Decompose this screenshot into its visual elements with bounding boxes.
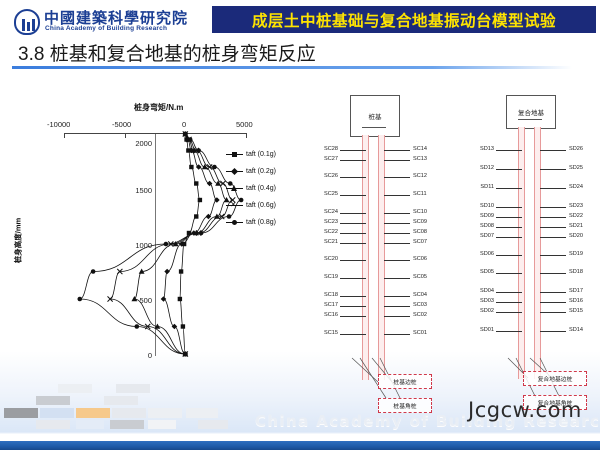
pile-shaft bbox=[362, 135, 369, 380]
callout-composite-edge: 复合地基边桩 bbox=[523, 371, 587, 386]
sensor-lead-line bbox=[496, 312, 522, 313]
sensor-label: SC10 bbox=[413, 209, 427, 215]
legend-label: taft (0.8g) bbox=[246, 219, 276, 226]
sensor-lead-line bbox=[384, 150, 410, 151]
sensor-lead-line bbox=[340, 223, 366, 224]
decorative-mosaic bbox=[0, 384, 240, 432]
sensor-lead-line bbox=[496, 302, 522, 303]
sensor-lead-line bbox=[384, 243, 410, 244]
sensor-label: SC13 bbox=[413, 156, 427, 162]
sensor-label: SD06 bbox=[464, 251, 494, 257]
legend-item: taft (0.2g) bbox=[226, 163, 304, 180]
sensor-label: SD07 bbox=[464, 233, 494, 239]
legend-label: taft (0.2g) bbox=[246, 168, 276, 175]
sensor-label: SC08 bbox=[413, 229, 427, 235]
sensor-label: SD21 bbox=[569, 223, 583, 229]
legend-marker-triangle-icon bbox=[226, 188, 243, 189]
sensor-label: SC17 bbox=[308, 302, 338, 308]
sensor-label: SC11 bbox=[413, 191, 427, 197]
sensor-label: SD24 bbox=[569, 184, 583, 190]
sensor-label: SD19 bbox=[569, 251, 583, 257]
legend-marker-circle-icon bbox=[226, 222, 243, 223]
sensor-lead-line bbox=[496, 169, 522, 170]
sensor-lead-line bbox=[340, 160, 366, 161]
sensor-lead-line bbox=[340, 260, 366, 261]
sensor-label: SC25 bbox=[308, 191, 338, 197]
sensor-lead-line bbox=[340, 316, 366, 317]
pile-shaft bbox=[534, 127, 541, 379]
sensor-label: SC27 bbox=[308, 156, 338, 162]
sensor-label: SD11 bbox=[464, 184, 494, 190]
sensor-label: SD20 bbox=[569, 233, 583, 239]
pile-cap-box: 复合地基 bbox=[506, 95, 556, 129]
sensor-lead-line bbox=[384, 177, 410, 178]
pile-foundation-diagram: 桩基 SC28SC14SC27SC13SC26SC12SC25SC11SC24S… bbox=[310, 95, 470, 380]
sensor-lead-line bbox=[496, 331, 522, 332]
sensor-lead-line bbox=[540, 273, 566, 274]
title-underline bbox=[12, 66, 572, 69]
pile-shaft bbox=[378, 135, 385, 380]
sensor-label: SD17 bbox=[569, 288, 583, 294]
sensor-lead-line bbox=[540, 227, 566, 228]
sensor-label: SC07 bbox=[413, 239, 427, 245]
sensor-label: SC01 bbox=[413, 330, 427, 336]
sensor-lead-line bbox=[496, 273, 522, 274]
sensor-label: SC22 bbox=[308, 229, 338, 235]
sensor-lead-line bbox=[496, 207, 522, 208]
sensor-label: SD12 bbox=[464, 165, 494, 171]
sensor-label: SD16 bbox=[569, 298, 583, 304]
sensor-label: SD10 bbox=[464, 203, 494, 209]
sensor-label: SD08 bbox=[464, 223, 494, 229]
sensor-lead-line bbox=[384, 278, 410, 279]
banner-title: 成层土中桩基础与复合地基振动台模型试验 bbox=[252, 9, 556, 31]
cabr-emblem-icon bbox=[14, 9, 40, 35]
sensor-lead-line bbox=[384, 233, 410, 234]
sensor-label: SC03 bbox=[413, 302, 427, 308]
sensor-label: SD23 bbox=[569, 203, 583, 209]
sensor-label: SC16 bbox=[308, 312, 338, 318]
presentation-banner: 成层土中桩基础与复合地基振动台模型试验 bbox=[212, 6, 596, 33]
sensor-lead-line bbox=[340, 233, 366, 234]
sensor-label: SC02 bbox=[413, 312, 427, 318]
cap-connector bbox=[362, 127, 386, 128]
sensor-label: SD26 bbox=[569, 146, 583, 152]
sensor-label: SD15 bbox=[569, 308, 583, 314]
callout-pile-edge: 桩基边桩 bbox=[378, 374, 432, 389]
sensor-lead-line bbox=[540, 255, 566, 256]
sensor-lead-line bbox=[384, 223, 410, 224]
sensor-label: SD18 bbox=[569, 269, 583, 275]
sensor-label: SC09 bbox=[413, 219, 427, 225]
sensor-lead-line bbox=[540, 331, 566, 332]
chart-legend: taft (0.1g) taft (0.2g) taft (0.4g) ✕ ta… bbox=[226, 146, 304, 231]
callout-label: 复合地基边桩 bbox=[538, 374, 573, 383]
sensor-lead-line bbox=[496, 217, 522, 218]
sensor-lead-line bbox=[384, 306, 410, 307]
sensor-label: SC26 bbox=[308, 173, 338, 179]
sensor-lead-line bbox=[540, 207, 566, 208]
legend-label: taft (0.4g) bbox=[246, 185, 276, 192]
sensor-lead-line bbox=[340, 306, 366, 307]
sensor-lead-line bbox=[384, 213, 410, 214]
pile-cap-label: 复合地基 bbox=[507, 107, 555, 117]
watermark-site: Jcgcw.com bbox=[468, 398, 582, 422]
sensor-lead-line bbox=[540, 150, 566, 151]
bending-moment-chart: 桩身弯矩/N.m -10000 -5000 0 5000 桩身高度/mm 0 5… bbox=[4, 100, 304, 375]
pile-shaft bbox=[518, 127, 525, 379]
sensor-lead-line bbox=[496, 188, 522, 189]
sensor-label: SD25 bbox=[569, 165, 583, 171]
sensor-lead-line bbox=[340, 334, 366, 335]
sensor-label: SC06 bbox=[413, 256, 427, 262]
sensor-label: SC04 bbox=[413, 292, 427, 298]
sensor-lead-line bbox=[340, 278, 366, 279]
org-name-en: China Academy of Building Research bbox=[45, 25, 167, 32]
sensor-label: SD05 bbox=[464, 269, 494, 275]
sensor-lead-line bbox=[496, 255, 522, 256]
legend-item: taft (0.4g) bbox=[226, 180, 304, 197]
chart-series-plot bbox=[4, 100, 304, 375]
sensor-lead-line bbox=[340, 195, 366, 196]
sensor-label: SC15 bbox=[308, 330, 338, 336]
callout-pile-corner: 桩基角桩 bbox=[378, 398, 432, 413]
sensor-lead-line bbox=[384, 160, 410, 161]
composite-foundation-diagram: 复合地基 SD13SD26SD12SD25SD11SD24SD10SD23SD0… bbox=[462, 95, 600, 380]
sensor-lead-line bbox=[540, 302, 566, 303]
sensor-label: SC20 bbox=[308, 256, 338, 262]
sensor-label: SC19 bbox=[308, 274, 338, 280]
sensor-lead-line bbox=[540, 312, 566, 313]
legend-label: taft (0.1g) bbox=[246, 151, 276, 158]
sensor-lead-line bbox=[340, 177, 366, 178]
sensor-label: SC18 bbox=[308, 292, 338, 298]
sensor-lead-line bbox=[384, 260, 410, 261]
legend-item: taft (0.8g) bbox=[226, 214, 304, 231]
sensor-label: SC28 bbox=[308, 146, 338, 152]
sensor-lead-line bbox=[340, 296, 366, 297]
legend-item: taft (0.1g) bbox=[226, 146, 304, 163]
sensor-lead-line bbox=[496, 150, 522, 151]
sensor-label: SC21 bbox=[308, 239, 338, 245]
callout-label: 桩基边桩 bbox=[393, 377, 416, 386]
callout-label: 桩基角桩 bbox=[393, 401, 416, 410]
sensor-lead-line bbox=[540, 292, 566, 293]
sensor-lead-line bbox=[496, 227, 522, 228]
sensor-lead-line bbox=[540, 217, 566, 218]
sensor-label: SD22 bbox=[569, 213, 583, 219]
sensor-label: SD13 bbox=[464, 146, 494, 152]
sensor-lead-line bbox=[496, 237, 522, 238]
sensor-lead-line bbox=[384, 195, 410, 196]
sensor-label: SC05 bbox=[413, 274, 427, 280]
sensor-label: SD02 bbox=[464, 308, 494, 314]
pile-cap-box: 桩基 bbox=[350, 95, 400, 137]
footer-bar bbox=[0, 441, 600, 450]
cap-connector bbox=[518, 119, 542, 120]
sensor-lead-line bbox=[384, 316, 410, 317]
legend-marker-cross-icon: ✕ bbox=[226, 205, 243, 206]
sensor-label: SC24 bbox=[308, 209, 338, 215]
sensor-lead-line bbox=[384, 296, 410, 297]
sensor-lead-line bbox=[340, 150, 366, 151]
sensor-label: SD03 bbox=[464, 298, 494, 304]
pile-cap-label: 桩基 bbox=[351, 111, 399, 121]
legend-label: taft (0.6g) bbox=[246, 202, 276, 209]
sensor-lead-line bbox=[340, 243, 366, 244]
legend-marker-square-icon bbox=[226, 154, 243, 155]
slide-canvas: 中國建築科學研究院 China Academy of Building Rese… bbox=[0, 0, 600, 450]
sensor-lead-line bbox=[384, 334, 410, 335]
organization-logo: 中國建築科學研究院 China Academy of Building Rese… bbox=[14, 8, 210, 38]
slide-title: 3.8 桩基和复合地基的桩身弯矩反应 bbox=[18, 39, 316, 66]
sensor-lead-line bbox=[540, 169, 566, 170]
sensor-label: SD04 bbox=[464, 288, 494, 294]
sensor-label: SD01 bbox=[464, 327, 494, 333]
sensor-label: SD09 bbox=[464, 213, 494, 219]
sensor-label: SC23 bbox=[308, 219, 338, 225]
legend-marker-diamond-icon bbox=[226, 171, 243, 172]
sensor-label: SD14 bbox=[569, 327, 583, 333]
legend-item: ✕ taft (0.6g) bbox=[226, 197, 304, 214]
sensor-label: SC14 bbox=[413, 146, 427, 152]
sensor-lead-line bbox=[496, 292, 522, 293]
sensor-lead-line bbox=[340, 213, 366, 214]
sensor-label: SC12 bbox=[413, 173, 427, 179]
sensor-lead-line bbox=[540, 237, 566, 238]
sensor-lead-line bbox=[540, 188, 566, 189]
